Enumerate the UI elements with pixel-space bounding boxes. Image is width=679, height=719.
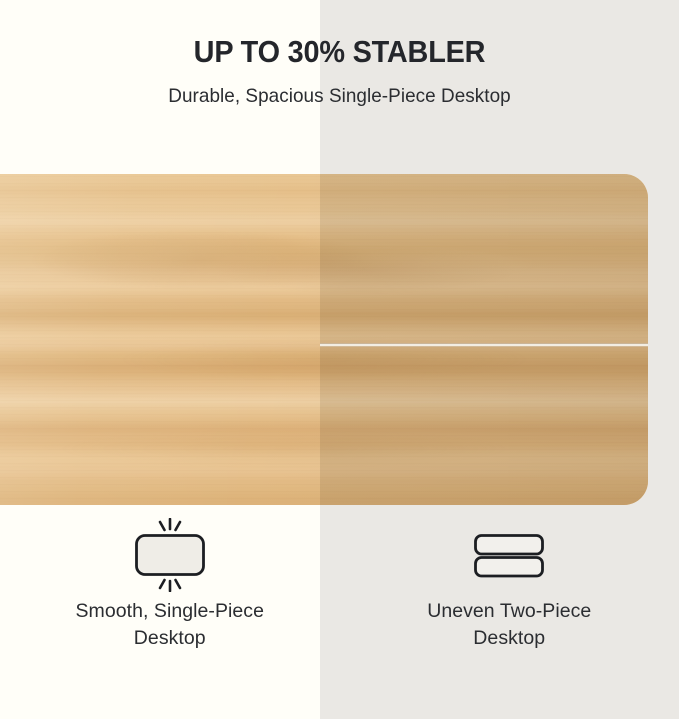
single-piece-desktop-icon: [124, 512, 216, 598]
desktop-surface-image: [0, 174, 648, 505]
right-half-dim-overlay: [320, 174, 648, 505]
caption-line-1: Smooth, Single-Piece: [75, 600, 264, 622]
caption-line-2: Desktop: [427, 625, 591, 652]
two-piece-desktop-icon: [463, 512, 555, 598]
caption-line-1: Uneven Two-Piece: [427, 600, 591, 622]
comparison-column-left: Smooth, Single-Piece Desktop: [0, 512, 340, 692]
product-comparison-graphic: UP TO 30% STABLER Durable, Spacious Sing…: [0, 0, 679, 719]
caption-line-2: Desktop: [75, 625, 264, 652]
two-piece-seam-line: [320, 343, 648, 347]
comparison-column-right: Uneven Two-Piece Desktop: [340, 512, 679, 692]
comparison-caption-left: Smooth, Single-Piece Desktop: [75, 598, 264, 652]
comparison-caption-right: Uneven Two-Piece Desktop: [427, 598, 591, 652]
comparison-row: Smooth, Single-Piece Desktop Uneven Two-…: [0, 512, 679, 692]
